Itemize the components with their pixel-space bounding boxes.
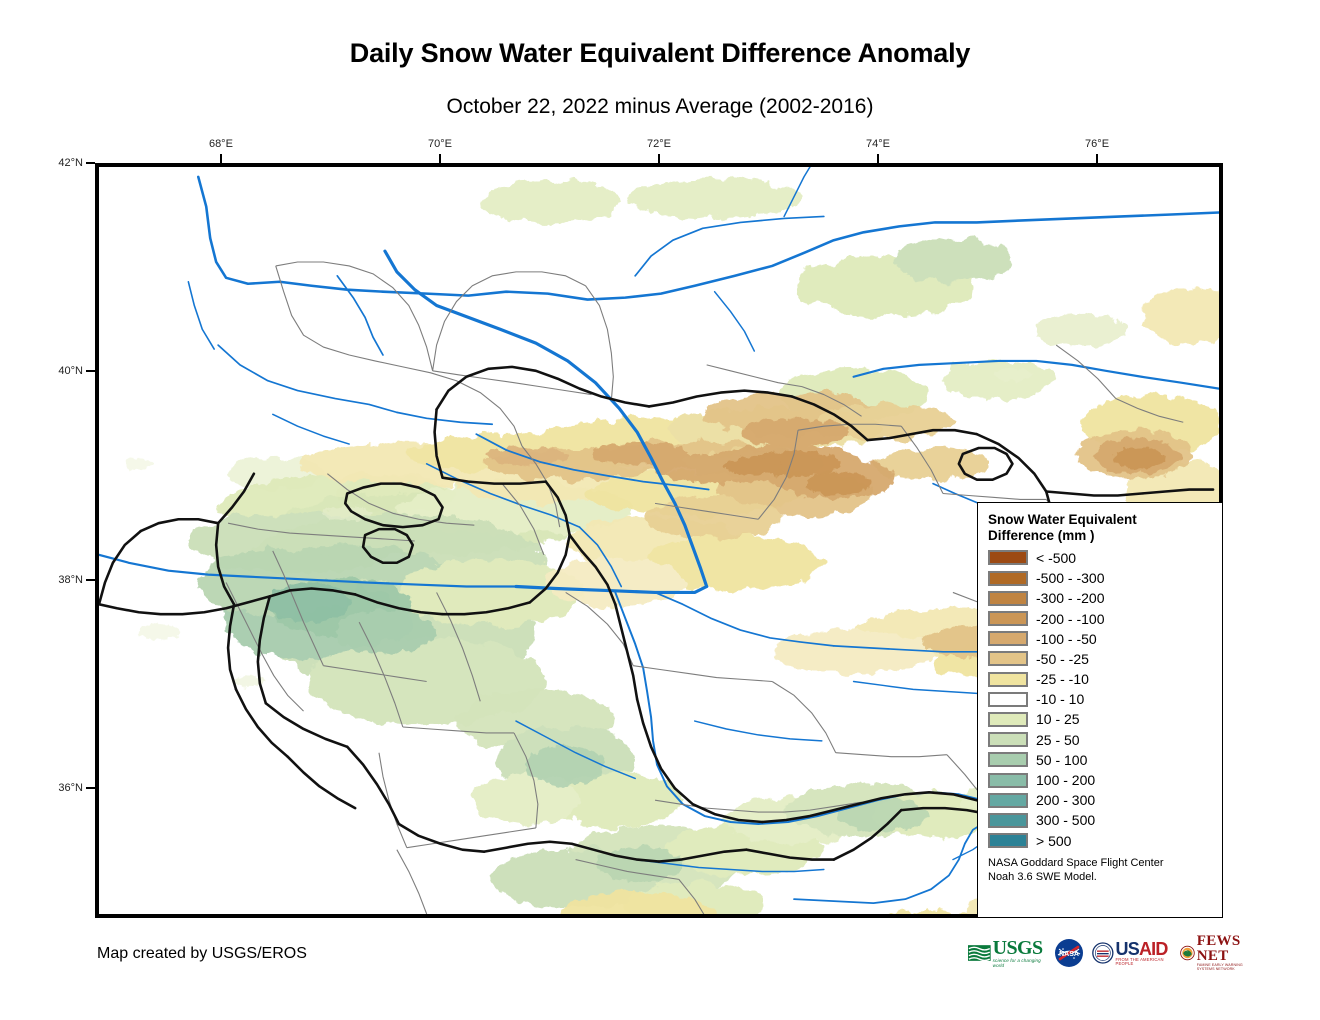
usgs-logo[interactable]: USGS science for a changing world xyxy=(968,937,1046,969)
legend-swatch xyxy=(988,631,1028,646)
longitude-label: 70°E xyxy=(428,138,452,150)
latitude-tick xyxy=(86,579,95,581)
legend-label: -100 - -50 xyxy=(1036,632,1097,646)
legend-label: -200 - -100 xyxy=(1036,612,1104,626)
legend-source-line2: Noah 3.6 SWE Model. xyxy=(988,870,1212,884)
longitude-tick xyxy=(658,154,660,163)
nasa-logo[interactable]: NASA xyxy=(1054,937,1084,969)
nasa-meatball-icon: NASA xyxy=(1054,938,1084,968)
legend-label: 25 - 50 xyxy=(1036,733,1080,747)
legend-item: -200 - -100 xyxy=(988,608,1212,628)
longitude-label: 68°E xyxy=(209,138,233,150)
legend-item: -500 - -300 xyxy=(988,568,1212,588)
legend-label: 100 - 200 xyxy=(1036,773,1095,787)
legend-title-line2: Difference (mm ) xyxy=(988,528,1212,544)
usgs-wave-icon xyxy=(968,944,991,962)
longitude-label: 76°E xyxy=(1085,138,1109,150)
usaid-seal-icon xyxy=(1092,940,1114,966)
usaid-us-text: US xyxy=(1116,939,1139,959)
legend-item: 100 - 200 xyxy=(988,770,1212,790)
map-credit: Map created by USGS/EROS xyxy=(97,945,307,963)
latitude-tick xyxy=(86,162,95,164)
legend-swatch xyxy=(988,773,1028,788)
legend-item: -100 - -50 xyxy=(988,629,1212,649)
logo-bar: USGS science for a changing world NASA xyxy=(968,934,1232,972)
legend-label: -10 - 10 xyxy=(1036,692,1084,706)
legend-source-note: NASA Goddard Space Flight Center Noah 3.… xyxy=(988,856,1212,884)
longitude-label: 72°E xyxy=(647,138,671,150)
latitude-tick xyxy=(86,370,95,372)
latitude-tick xyxy=(86,787,95,789)
usgs-wordmark: USGS xyxy=(993,938,1043,958)
legend-label: -500 - -300 xyxy=(1036,571,1104,585)
legend-item: > 500 xyxy=(988,830,1212,850)
legend-class-list: < -500-500 - -300-300 - -200-200 - -100-… xyxy=(988,548,1212,851)
legend-label: -300 - -200 xyxy=(1036,591,1104,605)
longitude-tick xyxy=(439,154,441,163)
legend-swatch xyxy=(988,813,1028,828)
legend-swatch xyxy=(988,793,1028,808)
legend-swatch xyxy=(988,651,1028,666)
legend-swatch xyxy=(988,611,1028,626)
latitude-label: 42°N xyxy=(37,157,83,169)
longitude-tick xyxy=(877,154,879,163)
latitude-label: 40°N xyxy=(37,365,83,377)
legend-item: -10 - 10 xyxy=(988,689,1212,709)
legend-item: 10 - 25 xyxy=(988,709,1212,729)
legend-label: 50 - 100 xyxy=(1036,753,1087,767)
usaid-logo[interactable]: USAID FROM THE AMERICAN PEOPLE xyxy=(1092,937,1172,969)
page-subtitle: October 22, 2022 minus Average (2002-201… xyxy=(0,95,1320,119)
legend-label: > 500 xyxy=(1036,834,1071,848)
fews-globe-icon xyxy=(1180,941,1195,965)
legend-item: 200 - 300 xyxy=(988,790,1212,810)
legend-swatch xyxy=(988,591,1028,606)
latitude-label: 38°N xyxy=(37,574,83,586)
usaid-wordmark: USAID xyxy=(1116,940,1168,958)
legend-item: -25 - -10 xyxy=(988,669,1212,689)
legend-swatch xyxy=(988,571,1028,586)
latitude-label: 36°N xyxy=(37,782,83,794)
legend-title: Snow Water Equivalent Difference (mm ) xyxy=(988,512,1212,544)
legend-title-line1: Snow Water Equivalent xyxy=(988,512,1212,528)
legend-swatch xyxy=(988,712,1028,727)
legend-item: < -500 xyxy=(988,548,1212,568)
legend-swatch xyxy=(988,833,1028,848)
legend-item: 25 - 50 xyxy=(988,730,1212,750)
longitude-tick xyxy=(220,154,222,163)
legend-source-line1: NASA Goddard Space Flight Center xyxy=(988,856,1212,870)
legend-item: -300 - -200 xyxy=(988,588,1212,608)
fews-net-logo[interactable]: FEWS NET FAMINE EARLY WARNING SYSTEMS NE… xyxy=(1180,937,1250,969)
usaid-tagline: FROM THE AMERICAN PEOPLE xyxy=(1116,958,1172,966)
legend-label: 300 - 500 xyxy=(1036,813,1095,827)
fews-wordmark: FEWS NET xyxy=(1197,934,1250,964)
map-legend[interactable]: Snow Water Equivalent Difference (mm ) <… xyxy=(977,502,1223,918)
legend-swatch xyxy=(988,672,1028,687)
usgs-tagline: science for a changing world xyxy=(993,959,1046,968)
longitude-tick xyxy=(1096,154,1098,163)
svg-text:NASA: NASA xyxy=(1059,951,1079,958)
legend-label: -25 - -10 xyxy=(1036,672,1089,686)
legend-label: 10 - 25 xyxy=(1036,712,1080,726)
legend-swatch xyxy=(988,692,1028,707)
legend-label: 200 - 300 xyxy=(1036,793,1095,807)
legend-swatch xyxy=(988,732,1028,747)
longitude-label: 74°E xyxy=(866,138,890,150)
legend-swatch xyxy=(988,550,1028,565)
legend-item: 300 - 500 xyxy=(988,810,1212,830)
page-title: Daily Snow Water Equivalent Difference A… xyxy=(0,38,1320,69)
legend-swatch xyxy=(988,752,1028,767)
legend-item: -50 - -25 xyxy=(988,649,1212,669)
fews-tagline: FAMINE EARLY WARNING SYSTEMS NETWORK xyxy=(1197,964,1250,971)
legend-label: < -500 xyxy=(1036,551,1076,565)
legend-label: -50 - -25 xyxy=(1036,652,1089,666)
legend-item: 50 - 100 xyxy=(988,750,1212,770)
usaid-aid-text: AID xyxy=(1139,939,1168,959)
